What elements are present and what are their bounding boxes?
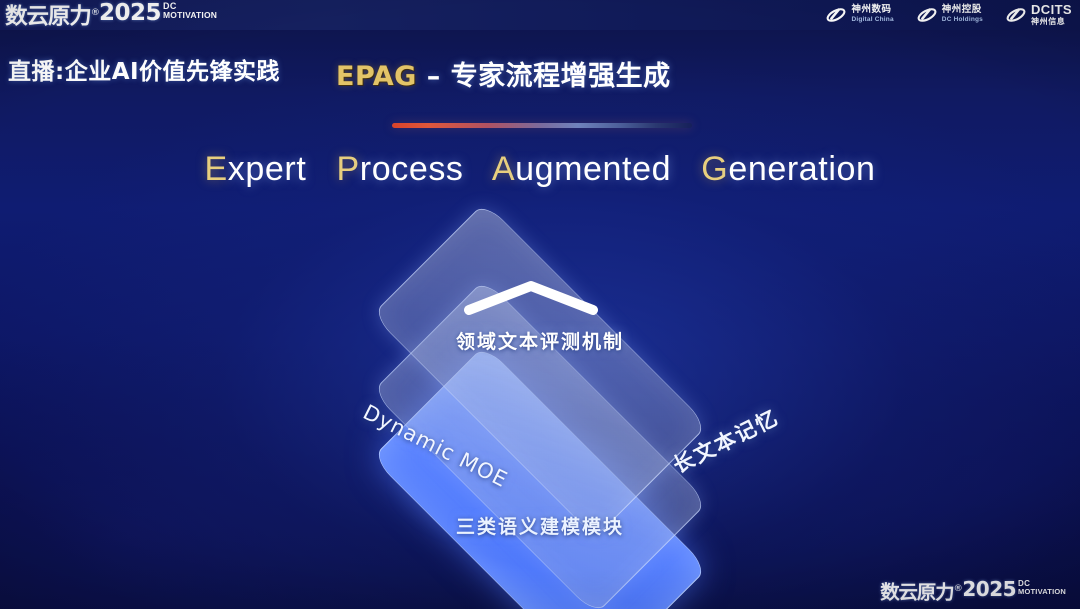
brand-name-cn: 数云原力® xyxy=(881,579,963,603)
brand-logo-watermark: 数云原力® 2025 DC MOTIVATION xyxy=(881,579,1066,603)
stack-label-bottom: 三类语义建模模块 xyxy=(295,512,785,539)
brand-dc-line2: MOTIVATION xyxy=(163,11,217,20)
logo-cn: 神州信息 xyxy=(1031,17,1072,27)
logo-text-dc-holdings: 神州控股 DC Holdings xyxy=(942,5,983,24)
logo-digital-china: 神州数码 Digital China xyxy=(825,4,893,26)
space xyxy=(681,150,691,188)
space xyxy=(316,150,326,188)
brand-name-cn: 数云原力® xyxy=(5,1,99,29)
title-acronym: EPAG xyxy=(336,61,417,92)
registered-mark: ® xyxy=(954,584,962,594)
logo-text-dcits: DCITS 神州信息 xyxy=(1031,3,1072,27)
logo-cn: 神州控股 xyxy=(942,5,983,15)
swirl-icon xyxy=(916,4,938,26)
brand-dc-motivation: DC MOTIVATION xyxy=(163,2,217,19)
logo-en: Digital China xyxy=(851,15,893,25)
brand-logo-top: 数云原力® 2025 DC MOTIVATION xyxy=(6,1,217,29)
logo-cn: 神州数码 xyxy=(851,5,893,15)
brand-year: 2025 xyxy=(962,579,1016,600)
brand-dc-line2: MOTIVATION xyxy=(1018,588,1066,597)
english-word-process: Process xyxy=(337,150,464,188)
logo-text-digital-china: 神州数码 Digital China xyxy=(851,5,893,24)
partner-logo-row: 神州数码 Digital China 神州控股 DC Holdings xyxy=(825,3,1072,27)
space xyxy=(474,150,484,188)
live-stream-label: 直播:企业AI价值先锋实践 xyxy=(8,52,280,86)
stack-label-right-edge-wrap: 长文本记忆 xyxy=(295,400,777,430)
brand-year: 2025 xyxy=(99,1,161,25)
logo-en: DCITS xyxy=(1031,3,1072,17)
gradient-divider xyxy=(392,123,692,128)
logo-dc-holdings: 神州控股 DC Holdings xyxy=(916,4,983,26)
stack-label-top: 领域文本评测机制 xyxy=(295,327,785,354)
swirl-icon xyxy=(1005,4,1027,26)
chevron-up-icon xyxy=(461,278,601,318)
logo-en: DC Holdings xyxy=(942,15,983,25)
logo-dcits: DCITS 神州信息 xyxy=(1005,3,1072,27)
slide-canvas: 数云原力® 2025 DC MOTIVATION 神州数码 Digital Ch… xyxy=(0,0,1080,609)
registered-mark: ® xyxy=(91,8,99,18)
isometric-layer-stack: 领域文本评测机制 Dynamic MOE 长文本记忆 三类语义建模模块 xyxy=(295,222,785,552)
brand-dc-motivation: DC MOTIVATION xyxy=(1018,580,1066,597)
english-expansion-line: Expert Process Augmented Generation xyxy=(0,150,1080,189)
title-subtitle: – 专家流程增强生成 xyxy=(417,61,671,92)
page-title: EPAG – 专家流程增强生成 xyxy=(336,54,671,93)
swirl-icon xyxy=(825,4,847,26)
english-word-augmented: Augmented xyxy=(492,150,671,188)
english-word-generation: Generation xyxy=(701,150,875,188)
english-word-expert: Expert xyxy=(205,150,307,188)
